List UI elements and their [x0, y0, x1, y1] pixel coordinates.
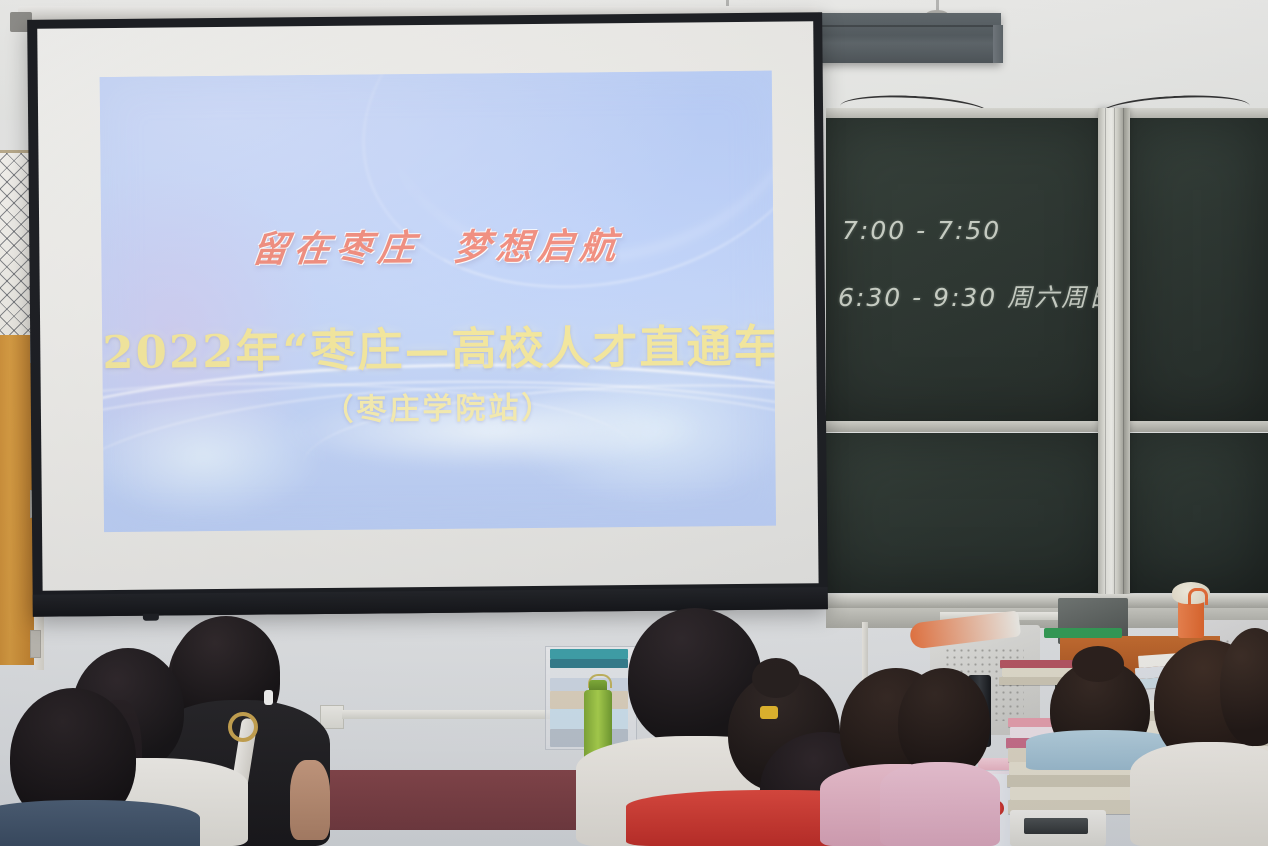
- folder: [550, 659, 628, 668]
- slide-main-title: 2022年“枣庄—高校人才直通车”: [102, 310, 775, 381]
- bag-ring-icon: [228, 712, 258, 742]
- student-torso: [1130, 742, 1268, 846]
- folder: [550, 649, 628, 659]
- projected-slide: 留在枣庄梦想启航 2022年“枣庄—高校人才直通车” （枣庄学院站）: [100, 71, 776, 532]
- pen-cup-handle: [1188, 588, 1208, 605]
- blackboard-panel-lower-right: [1126, 433, 1268, 593]
- screen-pull-tab[interactable]: [143, 614, 159, 621]
- student-arm: [290, 760, 330, 840]
- pen-cup: [1178, 600, 1204, 638]
- chalk-line-1: 7:00 - 7:50: [842, 216, 1001, 245]
- earbud-icon: [264, 690, 273, 705]
- slide-headline: 留在枣庄梦想启航: [100, 216, 776, 275]
- classroom-photo: 7:00 - 7:50 6:30 - 9:30 周六周日不休 毕 关灯.关窗: [0, 0, 1268, 846]
- blackboard-mid-frame-right: [1126, 421, 1268, 432]
- light-bar-end-cap: [993, 25, 1003, 63]
- student-hair-bun: [1072, 646, 1124, 682]
- blackboard-panel-upper-left: 7:00 - 7:50 6:30 - 9:30 周六周日不休: [826, 118, 1110, 423]
- sliding-blackboard: 7:00 - 7:50 6:30 - 9:30 周六周日不休 毕 关灯.关窗: [826, 108, 1268, 588]
- slide-text-block: 留在枣庄梦想启航 2022年“枣庄—高校人才直通车” （枣庄学院站）: [100, 71, 776, 532]
- slide-headline-right: 梦想启航: [452, 225, 625, 269]
- rail-line: [1114, 108, 1115, 600]
- hair-clip: [760, 706, 778, 719]
- slide-subtitle: （枣庄学院站）: [103, 381, 775, 431]
- wall-conduit: [342, 710, 557, 719]
- book: [1010, 787, 1136, 800]
- folder: [550, 668, 628, 678]
- student-hair-bun: [752, 658, 800, 698]
- blackboard-panel-upper-right: 毕: [1126, 118, 1268, 423]
- book: [1007, 775, 1138, 787]
- rail-line: [1123, 108, 1124, 600]
- blackboard-panel-lower-left: 关灯.关窗: [826, 433, 1110, 593]
- student-torso: [0, 800, 200, 846]
- slide-headline-left: 留在枣庄: [250, 227, 423, 271]
- green-notebook: [1044, 628, 1122, 638]
- rail-line: [1105, 108, 1106, 600]
- blackboard-mid-frame-left: [826, 421, 1110, 432]
- calculator[interactable]: [1010, 810, 1106, 846]
- blackboard-center-rail[interactable]: [1098, 108, 1130, 600]
- door-hinge-icon: [30, 630, 41, 658]
- projection-screen: 留在枣庄梦想启航 2022年“枣庄—高校人才直通车” （枣庄学院站）: [27, 12, 828, 617]
- calculator-display: [1024, 818, 1088, 834]
- student-torso: [880, 762, 1000, 846]
- power-outlet[interactable]: [320, 705, 344, 729]
